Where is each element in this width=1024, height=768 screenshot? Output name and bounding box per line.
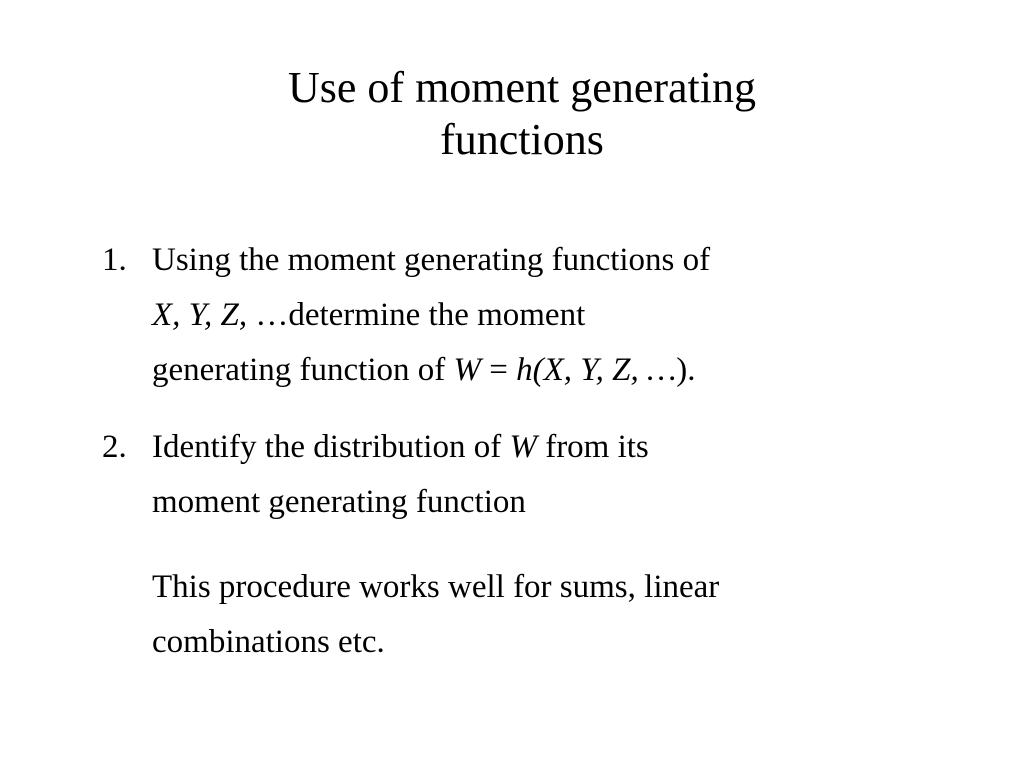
item-1-line-1: Using the moment generating functions of [152,233,960,288]
item-2-line-2: moment generating function [152,475,960,530]
item-2-line-1: Identify the distribution of W from its [152,420,960,475]
paragraph-line-2: combinations etc. [152,615,960,670]
math-equals: = [481,352,516,388]
paragraph-line-1: This procedure works well for sums, line… [152,560,960,615]
list-item-1-text: Using the moment generating functions of… [152,233,960,398]
math-variable-w: W [453,352,481,388]
math-variable-w: W [509,429,537,465]
math-function-h: h [516,352,533,388]
title-line-1: Use of moment generating [62,62,982,114]
list-marker-1: 1. [102,233,142,288]
item-2-line-1-suffix: from its [537,429,649,465]
item-1-line-3: generating function of W = h(X, Y, Z, …)… [152,343,960,398]
title-line-2: functions [62,114,982,166]
item-1-line-2: X, Y, Z, …determine the moment [152,288,960,343]
list-item: 1. Using the moment generating functions… [100,233,960,398]
closing-paragraph: This procedure works well for sums, line… [100,560,960,670]
list-item: 2. Identify the distribution of W from i… [100,420,960,530]
closing-paragraph-text: This procedure works well for sums, line… [152,560,960,670]
math-arguments: X, Y, Z, … [544,352,677,388]
slide: Use of moment generating functions 1. Us… [0,0,1024,768]
math-open-paren: ( [533,352,544,388]
page-title: Use of moment generating functions [62,62,982,167]
slide-body: 1. Using the moment generating functions… [100,233,960,670]
item-1-line-3-prefix: generating function of [152,352,453,388]
math-variables-xyz: X, Y, Z, [152,297,255,333]
list-item-2-text: Identify the distribution of W from its … [152,420,960,530]
item-1-line-2-rest: …determine the moment [255,297,585,333]
math-close-paren: ). [676,352,695,388]
list-marker-2: 2. [102,420,142,475]
item-2-line-1-prefix: Identify the distribution of [152,429,509,465]
